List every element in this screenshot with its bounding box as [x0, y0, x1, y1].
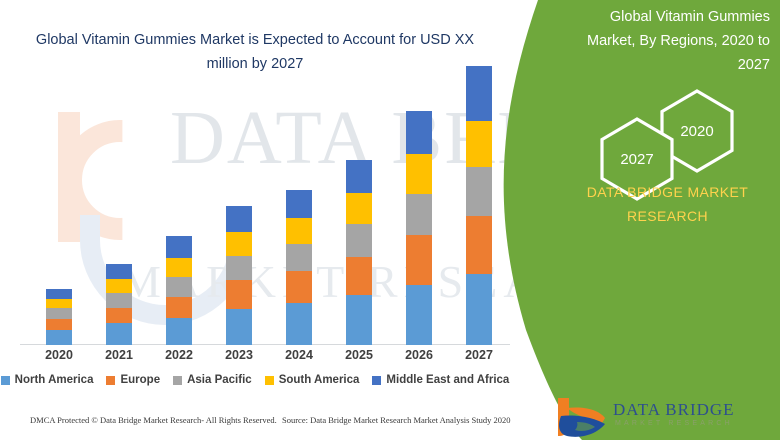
bar-segment[interactable]: [226, 256, 252, 281]
bar-segment[interactable]: [46, 319, 72, 330]
legend-label: Europe: [120, 374, 160, 386]
bar-segment[interactable]: [406, 285, 432, 345]
bar-segment[interactable]: [46, 299, 72, 309]
x-axis-line: [20, 344, 510, 345]
bar-segment[interactable]: [226, 206, 252, 232]
bar-2026[interactable]: [406, 111, 432, 345]
legend-swatch: [1, 376, 10, 385]
legend-swatch: [106, 376, 115, 385]
bar-segment[interactable]: [226, 309, 252, 345]
brand-name: DATA BRIDGE MARKET RESEARCH: [565, 180, 770, 228]
legend-item[interactable]: Middle East and Africa: [372, 374, 509, 386]
bar-segment[interactable]: [106, 293, 132, 308]
bar-segment[interactable]: [46, 308, 72, 319]
company-logo: DATA BRIDGE MARKET RESEARCH: [520, 386, 760, 436]
hexagon-2027-label: 2027: [620, 151, 653, 168]
bar-segment[interactable]: [166, 297, 192, 319]
page-title: Global Vitamin Gummies Market is Expecte…: [30, 28, 480, 76]
legend-item[interactable]: Europe: [106, 374, 160, 386]
bar-segment[interactable]: [346, 257, 372, 296]
chart-legend: North AmericaEuropeAsia PacificSouth Ame…: [0, 374, 510, 386]
bar-segment[interactable]: [346, 295, 372, 345]
bar-segment[interactable]: [346, 160, 372, 193]
legend-swatch: [173, 376, 182, 385]
bar-segment[interactable]: [406, 235, 432, 285]
footer: DMCA Protected © Data Bridge Market Rese…: [0, 415, 520, 437]
x-label-2021: 2021: [89, 348, 149, 362]
bar-segment[interactable]: [166, 236, 192, 258]
x-label-2020: 2020: [29, 348, 89, 362]
legend-label: Asia Pacific: [187, 374, 252, 386]
bar-segment[interactable]: [106, 279, 132, 293]
brand-panel: Global Vitamin Gummies Market, By Region…: [490, 0, 780, 440]
bar-segment[interactable]: [406, 154, 432, 194]
stacked-bar-chart: [20, 95, 510, 345]
x-label-2023: 2023: [209, 348, 269, 362]
bar-segment[interactable]: [166, 277, 192, 296]
legend-item[interactable]: South America: [265, 374, 360, 386]
x-label-2026: 2026: [389, 348, 449, 362]
bar-2025[interactable]: [346, 160, 372, 345]
bar-segment[interactable]: [166, 258, 192, 277]
legend-label: South America: [279, 374, 360, 386]
data-bridge-logo-icon: [555, 396, 609, 440]
bar-segment[interactable]: [226, 232, 252, 256]
bar-segment[interactable]: [46, 330, 72, 345]
hexagon-2020-label: 2020: [680, 123, 713, 140]
bar-2021[interactable]: [106, 264, 132, 345]
bar-segment[interactable]: [466, 121, 492, 167]
x-label-2022: 2022: [149, 348, 209, 362]
legend-swatch: [265, 376, 274, 385]
logo-wordmark: DATA BRIDGE: [613, 400, 735, 420]
bar-segment[interactable]: [286, 244, 312, 271]
bar-segment[interactable]: [106, 264, 132, 279]
bar-segment[interactable]: [466, 274, 492, 345]
bar-segment[interactable]: [466, 216, 492, 274]
bar-segment[interactable]: [46, 289, 72, 299]
footer-source-text: Source: Data Bridge Market Research Mark…: [282, 415, 511, 425]
bar-segment[interactable]: [406, 111, 432, 154]
panel-title: Global Vitamin Gummies Market, By Region…: [570, 5, 770, 77]
bar-segment[interactable]: [466, 167, 492, 215]
bar-segment[interactable]: [466, 66, 492, 121]
bar-2024[interactable]: [286, 190, 312, 345]
bar-segment[interactable]: [226, 280, 252, 309]
legend-item[interactable]: Asia Pacific: [173, 374, 252, 386]
logo-tagline: MARKET RESEARCH: [615, 420, 733, 427]
x-axis-labels: 20202021202220232024202520262027: [20, 348, 510, 368]
bar-segment[interactable]: [406, 194, 432, 235]
legend-item[interactable]: North America: [1, 374, 94, 386]
legend-swatch: [372, 376, 381, 385]
bar-2020[interactable]: [46, 289, 72, 345]
bar-segment[interactable]: [346, 224, 372, 256]
bar-2022[interactable]: [166, 236, 192, 345]
bar-segment[interactable]: [106, 323, 132, 345]
bar-segment[interactable]: [286, 218, 312, 244]
bar-segment[interactable]: [166, 318, 192, 345]
bar-segment[interactable]: [286, 271, 312, 303]
legend-label: North America: [15, 374, 94, 386]
bar-segment[interactable]: [106, 308, 132, 323]
bar-2027[interactable]: [466, 66, 492, 345]
footer-dmca-text: DMCA Protected © Data Bridge Market Rese…: [30, 415, 277, 425]
bar-segment[interactable]: [286, 190, 312, 218]
x-label-2024: 2024: [269, 348, 329, 362]
bar-segment[interactable]: [286, 303, 312, 345]
bar-2023[interactable]: [226, 206, 252, 345]
bar-segment[interactable]: [346, 193, 372, 224]
x-label-2025: 2025: [329, 348, 389, 362]
